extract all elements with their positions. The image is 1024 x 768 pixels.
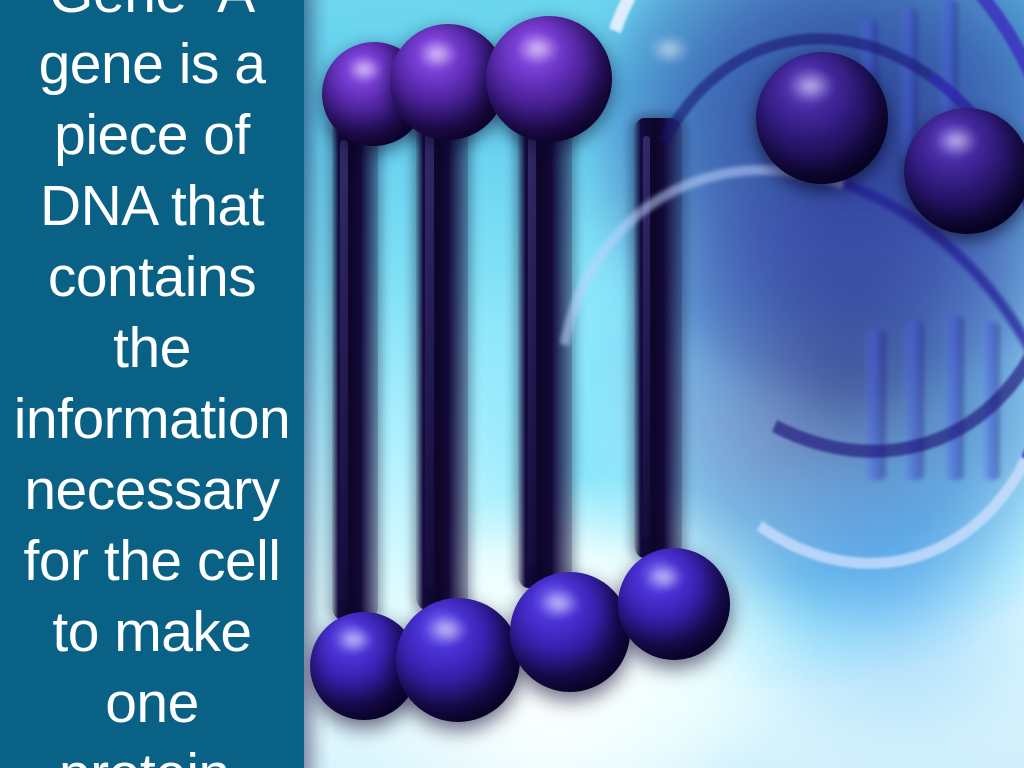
- far-rung-3: [944, 316, 964, 480]
- bead-top-5-dark: [756, 52, 888, 184]
- bead-gold-gold: [618, 18, 740, 140]
- far-rung-4: [982, 322, 1000, 480]
- bead-specular-highlight: [647, 564, 683, 591]
- bead-specular-highlight: [519, 34, 559, 64]
- photo-left-edge-shadow: [304, 0, 330, 768]
- bead-specular-highlight: [420, 40, 457, 68]
- bead-bot-4-indigo: [618, 548, 730, 660]
- blue-haze-bottom-right: [694, 438, 1024, 738]
- slide-canvas: Gene- A gene is a piece of DNA that cont…: [0, 0, 1024, 768]
- rung-3: [518, 104, 572, 588]
- bead-specular-highlight: [790, 70, 832, 102]
- bead-top-6-dark: [904, 108, 1024, 234]
- bead-bot-3-indigo: [510, 572, 630, 692]
- rung-1: [332, 120, 378, 620]
- dna-helix-image: [304, 0, 1024, 768]
- caption-panel: Gene- A gene is a piece of DNA that cont…: [0, 0, 304, 768]
- far-rung-1: [864, 330, 886, 480]
- rung-4: [634, 118, 682, 558]
- far-rung-2: [904, 320, 924, 480]
- rung-2: [416, 108, 468, 610]
- bead-specular-highlight: [349, 57, 382, 82]
- bead-specular-highlight: [541, 589, 579, 618]
- bead-specular-highlight: [650, 35, 689, 64]
- bead-specular-highlight: [428, 615, 468, 645]
- bead-top-3-purple: [486, 16, 612, 142]
- bead-specular-highlight: [937, 126, 977, 156]
- bead-specular-highlight: [338, 627, 373, 653]
- caption-text: Gene- A gene is a piece of DNA that cont…: [2, 0, 302, 768]
- bead-bot-2-indigo: [396, 598, 520, 722]
